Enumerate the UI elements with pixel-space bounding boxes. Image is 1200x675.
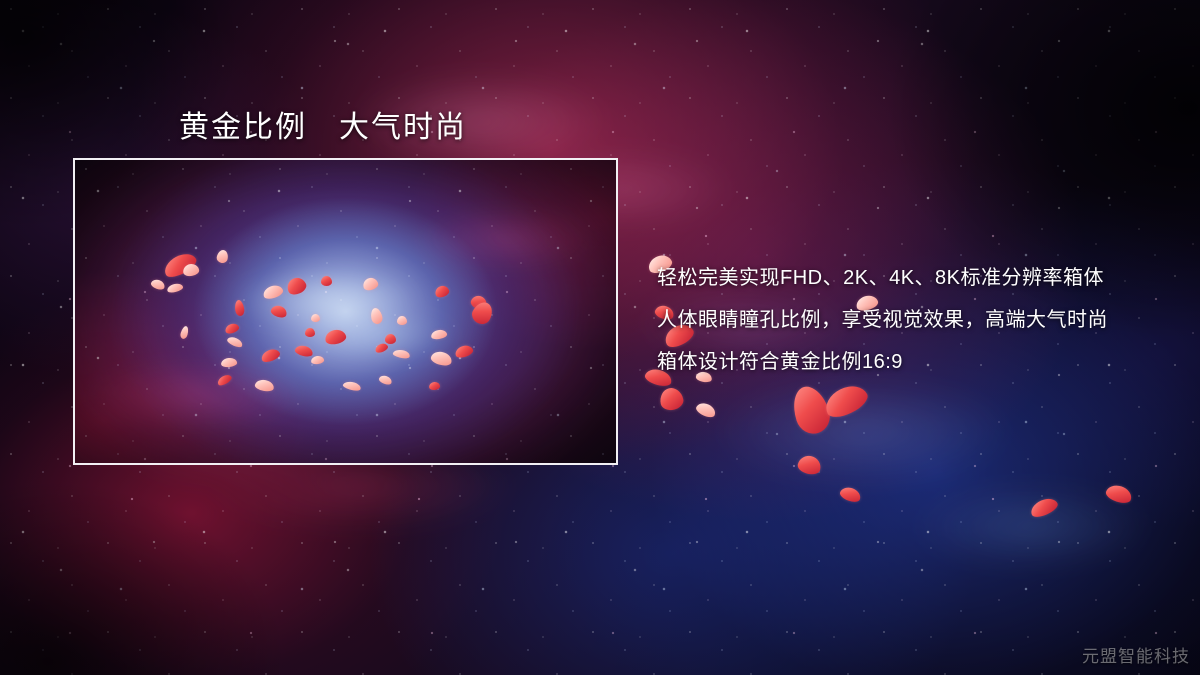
watermark: 元盟智能科技 bbox=[1082, 642, 1190, 667]
petal bbox=[796, 453, 823, 476]
panel-vignette bbox=[75, 160, 616, 463]
feature-description: 轻松完美实现FHD、2K、4K、8K标准分辨率箱体 人体眼睛瞳孔比例，享受视觉效… bbox=[657, 257, 1108, 383]
petal bbox=[821, 380, 872, 423]
feature-line-1: 轻松完美实现FHD、2K、4K、8K标准分辨率箱体 bbox=[657, 257, 1108, 299]
preview-frame bbox=[73, 158, 618, 465]
petal bbox=[1104, 482, 1134, 505]
petal bbox=[1028, 495, 1060, 520]
petal bbox=[838, 485, 862, 504]
feature-line-3: 箱体设计符合黄金比例16:9 bbox=[657, 341, 1108, 383]
petal bbox=[694, 400, 717, 419]
presentation-slide: 黄金比例 大气时尚 轻松完美实现FHD、2K、4K、8K标准分辨率箱体 人体眼睛… bbox=[0, 0, 1200, 675]
petal bbox=[787, 382, 834, 438]
slide-title: 黄金比例 大气时尚 bbox=[179, 102, 467, 146]
petal bbox=[658, 386, 685, 412]
feature-line-2: 人体眼睛瞳孔比例，享受视觉效果，高端大气时尚 bbox=[657, 299, 1108, 341]
